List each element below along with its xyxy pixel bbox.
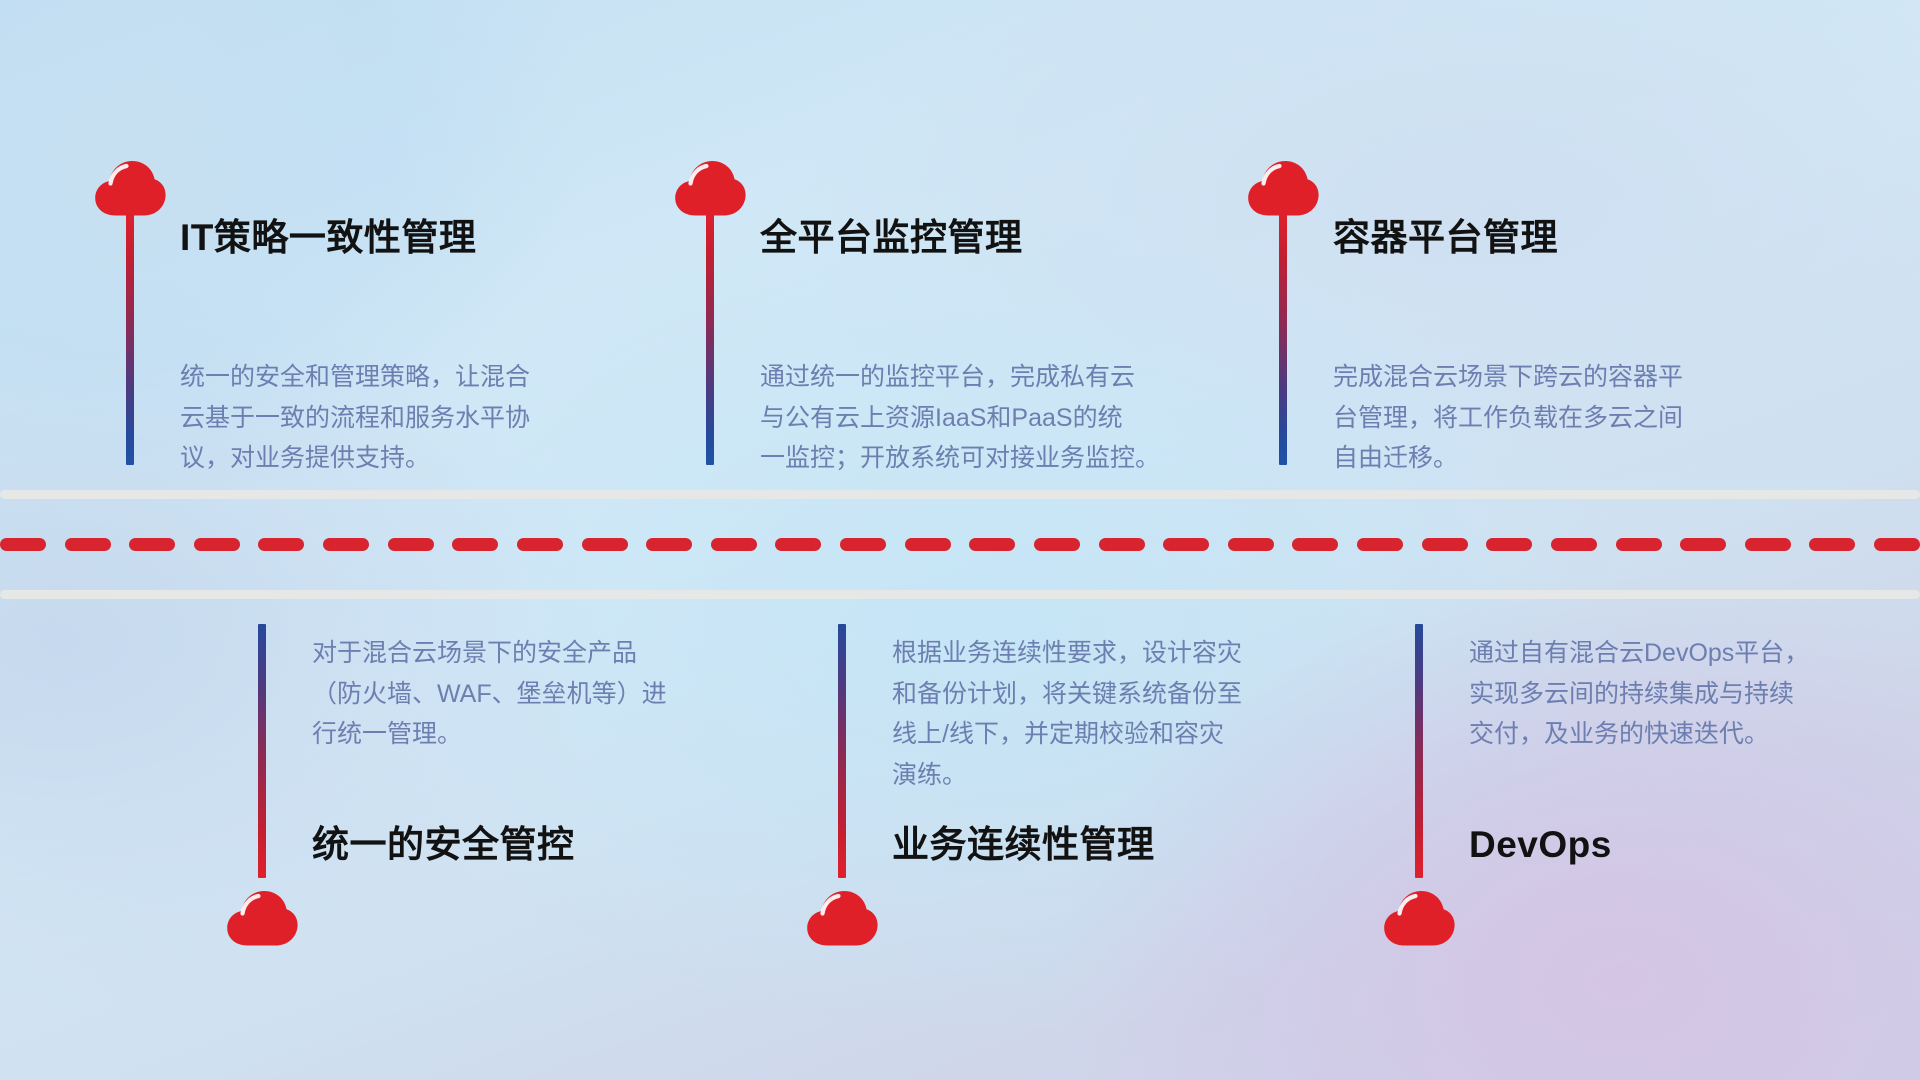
bottom-column-1-body: 对于混合云场景下的安全产品 （防火墙、WAF、堡垒机等）进 行统一管理。 — [312, 633, 742, 755]
cloud-icon — [1382, 890, 1456, 946]
divider-dash — [775, 538, 821, 551]
divider-rule-top — [0, 490, 1920, 499]
connector-stem — [706, 212, 714, 465]
divider-dash — [1099, 538, 1145, 551]
top-column-2-heading: 全平台监控管理 — [760, 218, 1023, 259]
bottom-column-2-heading: 业务连续性管理 — [892, 825, 1155, 866]
divider-dash — [1422, 538, 1468, 551]
divider-dash — [1486, 538, 1532, 551]
divider-dash — [1745, 538, 1791, 551]
divider-dash — [65, 538, 111, 551]
divider-band — [0, 490, 1920, 600]
infographic-canvas: IT策略一致性管理 统一的安全和管理策略，让混合 云基于一致的流程和服务水平协 … — [0, 0, 1920, 1080]
divider-dash — [969, 538, 1015, 551]
bottom-column-3-heading: DevOps — [1469, 825, 1612, 866]
divider-dash — [388, 538, 434, 551]
divider-dash — [1551, 538, 1597, 551]
divider-dash — [905, 538, 951, 551]
cloud-icon — [93, 160, 167, 216]
divider-dash — [258, 538, 304, 551]
cloud-icon — [225, 890, 299, 946]
divider-rule-bottom — [0, 590, 1920, 599]
top-column-3-body: 完成混合云场景下跨云的容器平 台管理，将工作负载在多云之间 自由迁移。 — [1333, 357, 1773, 479]
connector-stem — [838, 624, 846, 878]
divider-dash — [1874, 538, 1920, 551]
bottom-column-1-heading: 统一的安全管控 — [312, 825, 575, 866]
divider-dash — [1228, 538, 1274, 551]
divider-dash — [1163, 538, 1209, 551]
connector-stem — [126, 212, 134, 465]
divider-dash — [711, 538, 757, 551]
divider-dash — [1292, 538, 1338, 551]
cloud-icon — [673, 160, 747, 216]
divider-dash — [646, 538, 692, 551]
divider-dash — [1680, 538, 1726, 551]
divider-dash — [1034, 538, 1080, 551]
top-column-3-heading: 容器平台管理 — [1333, 218, 1558, 259]
top-column-1-body: 统一的安全和管理策略，让混合 云基于一致的流程和服务水平协 议，对业务提供支持。 — [180, 357, 610, 479]
bottom-column-2-body: 根据业务连续性要求，设计容灾 和备份计划，将关键系统备份至 线上/线下，并定期校… — [892, 633, 1332, 795]
divider-dashed-line — [0, 538, 1920, 551]
divider-dash — [517, 538, 563, 551]
top-column-2-body: 通过统一的监控平台，完成私有云 与公有云上资源IaaS和PaaS的统 一监控；开… — [760, 357, 1210, 479]
divider-dash — [129, 538, 175, 551]
divider-dash — [194, 538, 240, 551]
connector-stem — [258, 624, 266, 878]
divider-dash — [0, 538, 46, 551]
divider-dash — [1357, 538, 1403, 551]
divider-dash — [840, 538, 886, 551]
connector-stem — [1415, 624, 1423, 878]
bottom-column-3-body: 通过自有混合云DevOps平台， 实现多云间的持续集成与持续 交付，及业务的快速… — [1469, 633, 1909, 755]
top-column-1-heading: IT策略一致性管理 — [180, 218, 476, 259]
divider-dash — [1616, 538, 1662, 551]
divider-dash — [1809, 538, 1855, 551]
divider-dash — [452, 538, 498, 551]
cloud-icon — [1246, 160, 1320, 216]
divider-dash — [582, 538, 628, 551]
divider-dash — [323, 538, 369, 551]
connector-stem — [1279, 212, 1287, 465]
cloud-icon — [805, 890, 879, 946]
